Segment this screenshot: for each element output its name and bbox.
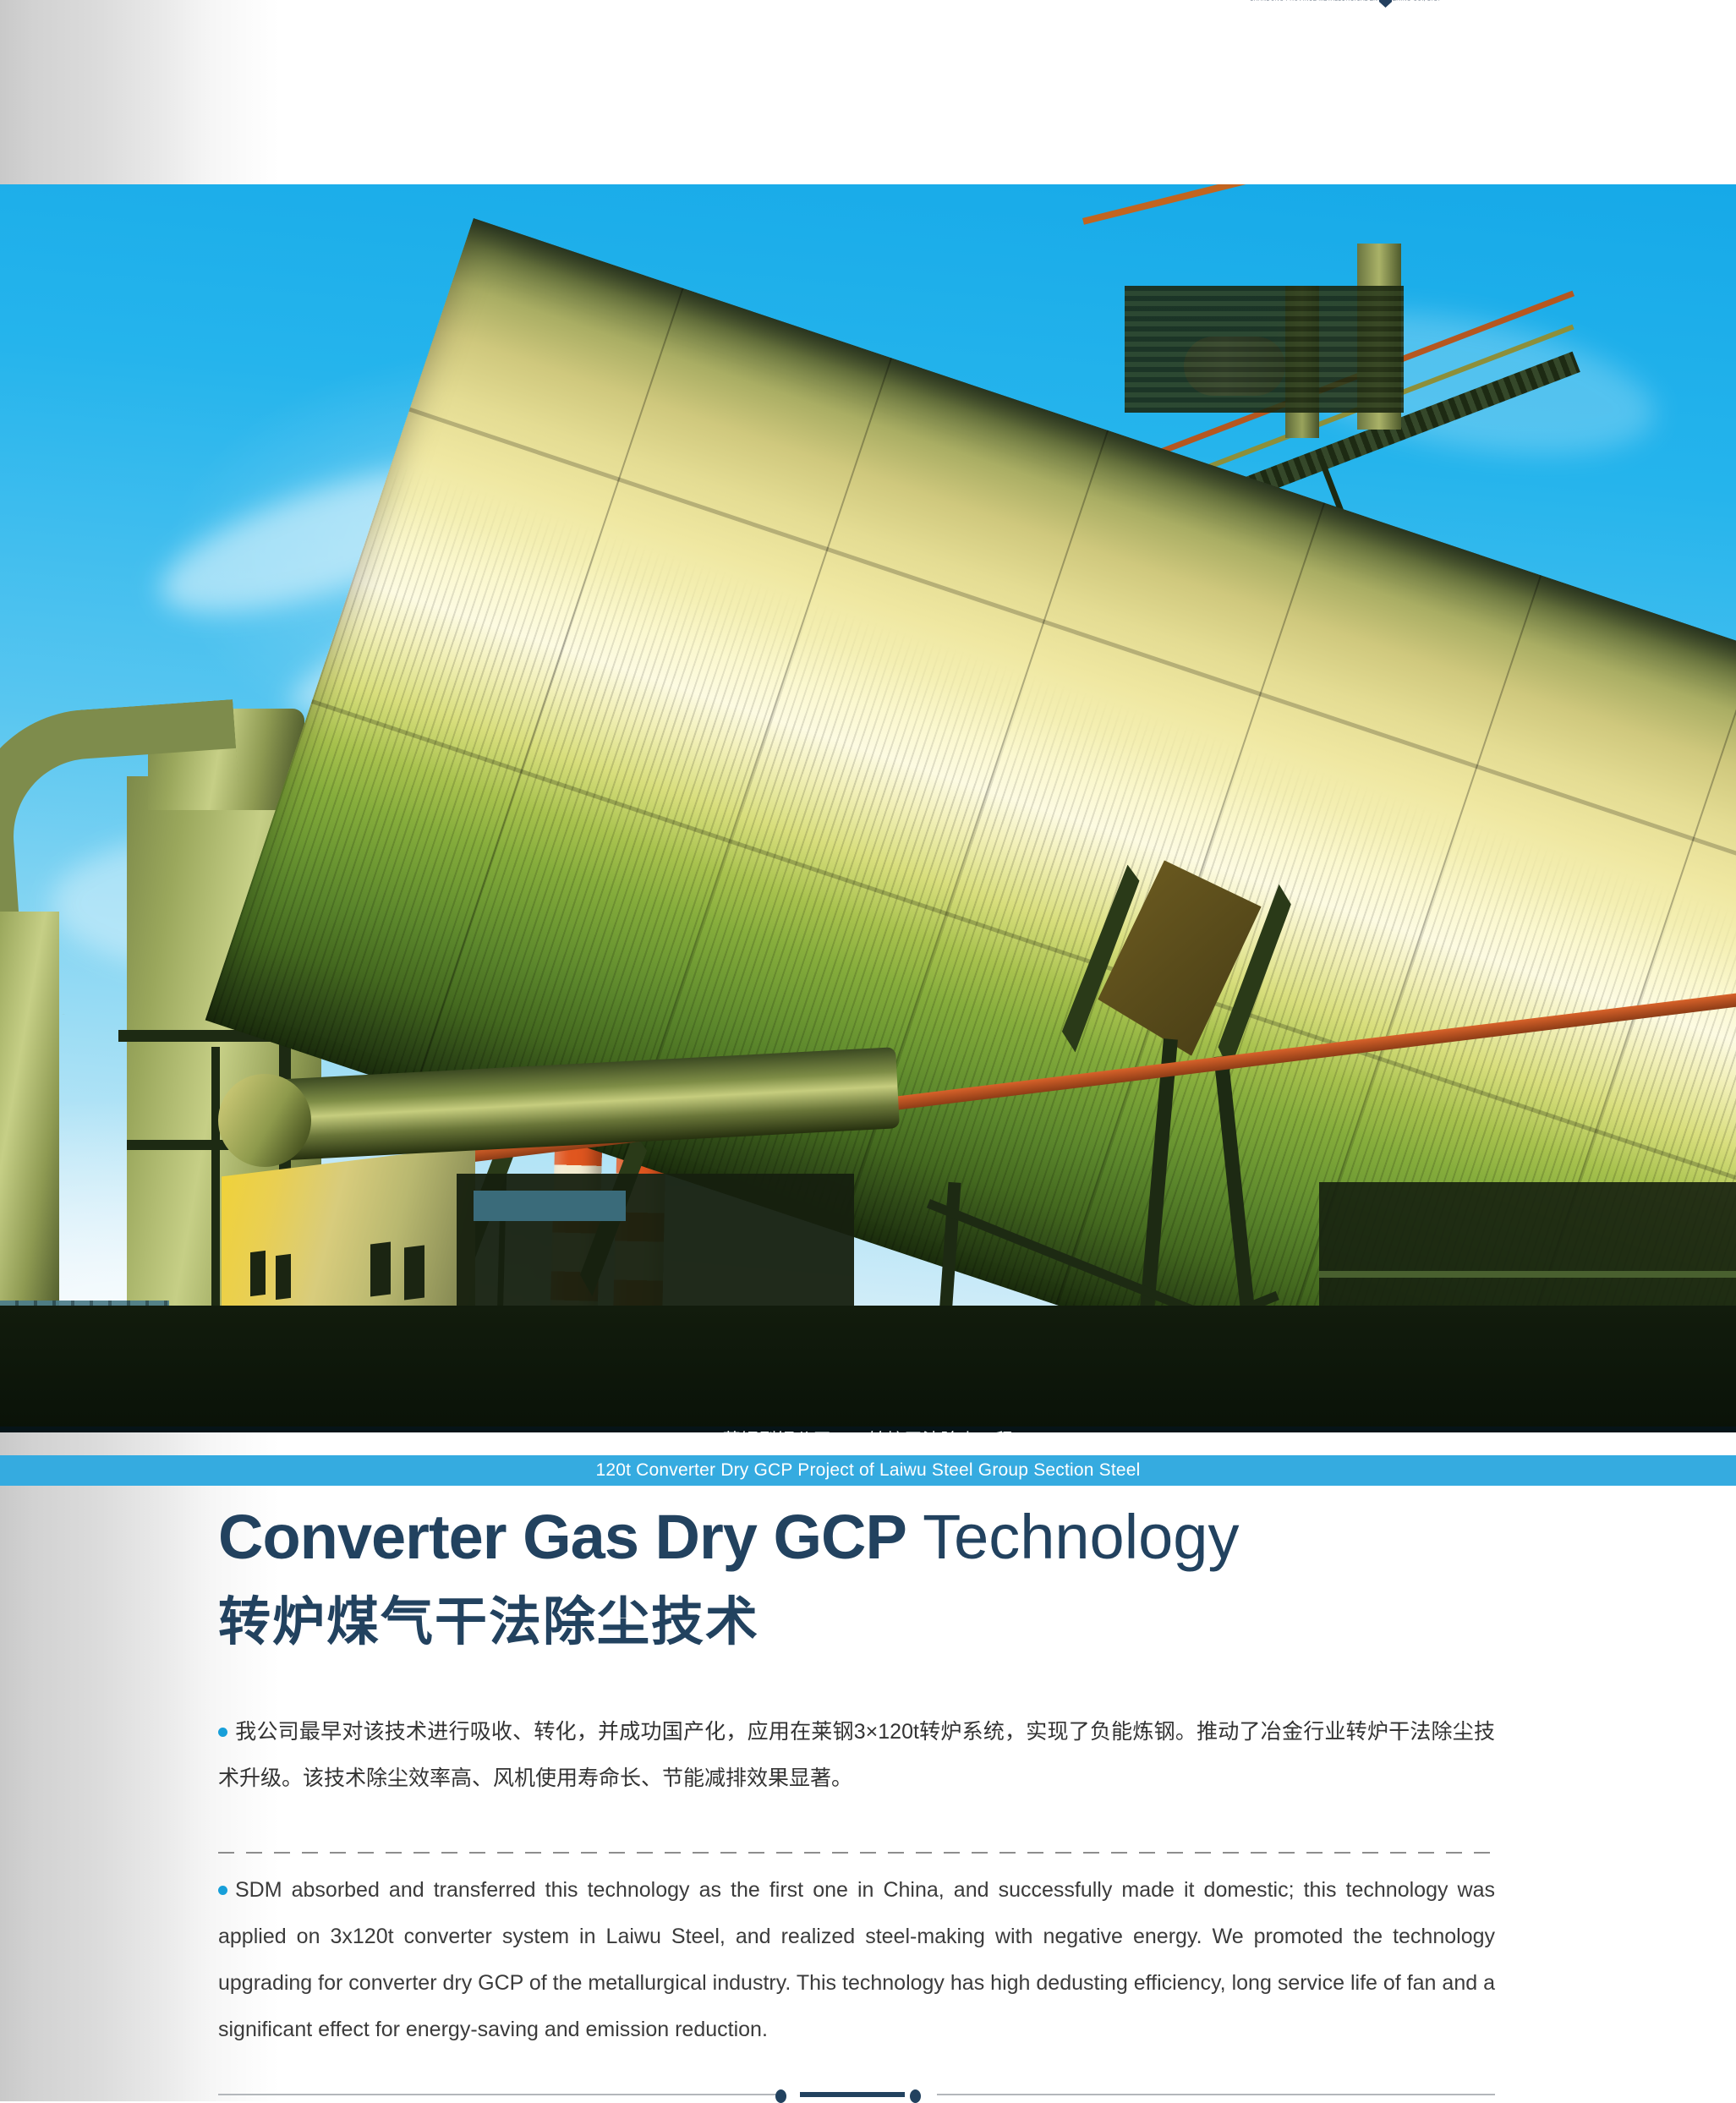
paragraph-chinese-text: 我公司最早对该技术进行吸收、转化，并成功国产化，应用在莱钢3×120t转炉系统，… [218,1720,1495,1790]
page-title-chinese: 转炉煤气干法除尘技术 [218,1590,759,1656]
title-bold-part: Converter Gas Dry GCP [218,1502,906,1572]
dashed-divider [218,1852,1495,1854]
photo-caption-en-text: 120t Converter Dry GCP Project of Laiwu … [0,1455,1736,1486]
footer-rule-right [937,2094,1495,2095]
top-structure [1125,286,1404,413]
plant-handrail [1319,1271,1736,1278]
title-light-part: Technology [906,1502,1240,1572]
page-title-english: Converter Gas Dry GCP Technology [218,1501,1656,1574]
photo-caption-en-bar: 120t Converter Dry GCP Project of Laiwu … [0,1455,1736,1486]
ground-plane [0,1306,1736,1432]
paragraph-chinese: 我公司最早对该技术进行吸收、转化，并成功国产化，应用在莱钢3×120t转炉系统，… [218,1709,1495,1802]
duct-elbow [218,1074,311,1167]
bullet-dot-icon [218,1728,227,1737]
paragraph-english: SDM absorbed and transferred this techno… [218,1867,1495,2053]
footer-ornament [218,2090,1495,2099]
bullet-dot-icon [218,1886,227,1895]
industrial-plant-photo: 莱钢型钢公司120t转炉干法除尘工程 [0,184,1736,1432]
shed-window-strip [474,1191,626,1221]
page-header: SHANDONG PROVINCE METALLURGICAL ENGINEER… [0,0,1736,19]
footer-rule-left [218,2094,776,2095]
photo-caption-cn-text: 莱钢型钢公司120t转炉干法除尘工程 [0,1427,1736,1432]
footer-center-bar [800,2092,905,2097]
building-window [370,1242,391,1297]
building-window [276,1254,291,1300]
shield-logo-icon [1379,0,1392,8]
company-name-text: SHANDONG PROVINCE METALLURGICAL ENGINEER… [1250,0,1440,2]
paragraph-english-text: SDM absorbed and transferred this techno… [218,1878,1495,2041]
photo-caption-cn-bar: 莱钢型钢公司120t转炉干法除尘工程 [0,1427,1736,1432]
building-window [404,1246,424,1301]
building-window [250,1251,266,1296]
